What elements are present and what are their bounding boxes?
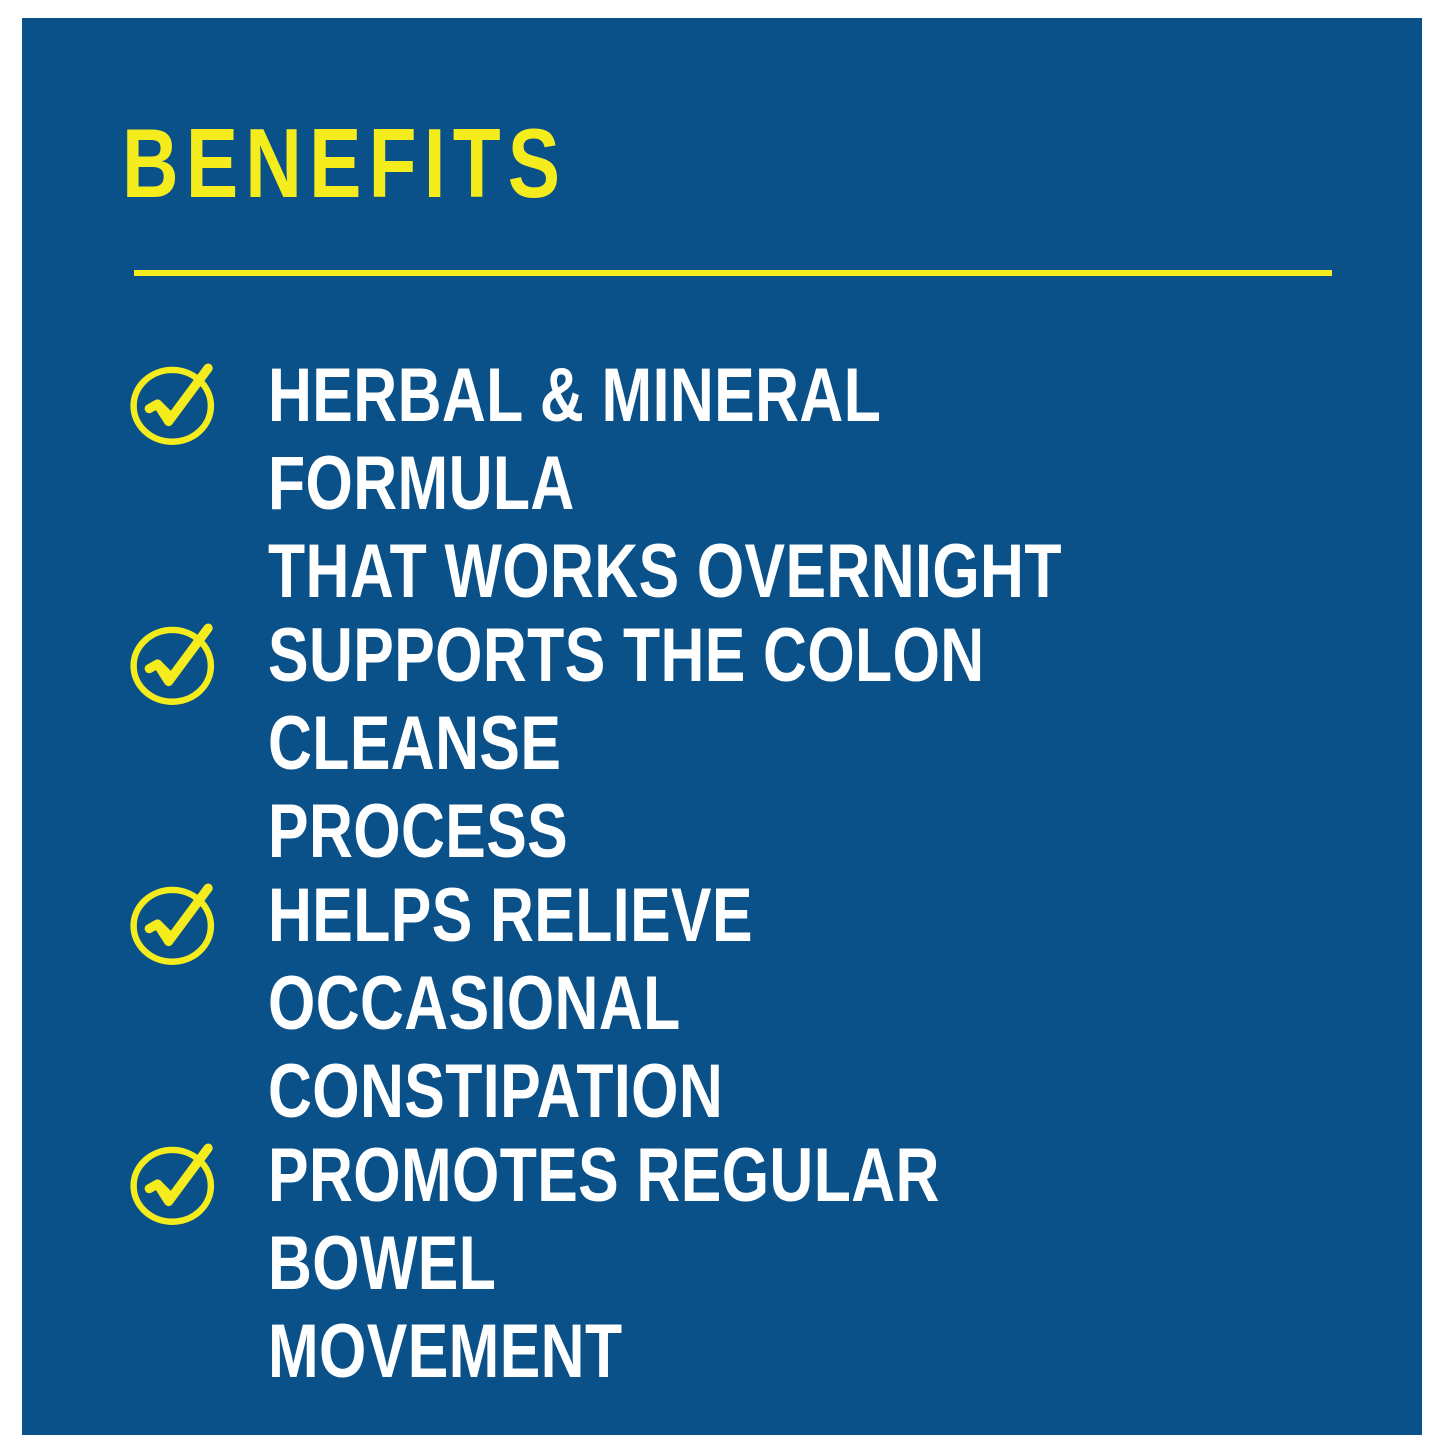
benefits-list: HERBAL & MINERAL FORMULA THAT WORKS OVER… — [22, 352, 1422, 1392]
benefit-text: HERBAL & MINERAL FORMULA THAT WORKS OVER… — [268, 352, 1180, 616]
check-circle-icon — [129, 358, 221, 450]
list-item: SUPPORTS THE COLON CLEANSE PROCESS — [22, 612, 1422, 872]
list-item: HELPS RELIEVE OCCASIONAL CONSTIPATION — [22, 872, 1422, 1132]
check-circle-icon — [129, 878, 221, 970]
check-circle-icon — [129, 618, 221, 710]
benefit-text: HELPS RELIEVE OCCASIONAL CONSTIPATION — [268, 872, 1180, 1136]
list-item: PROMOTES REGULAR BOWEL MOVEMENT — [22, 1132, 1422, 1392]
benefit-text: SUPPORTS THE COLON CLEANSE PROCESS — [268, 612, 1180, 876]
check-circle-icon — [129, 1138, 221, 1230]
benefit-text: PROMOTES REGULAR BOWEL MOVEMENT — [268, 1132, 1180, 1396]
page-title: BENEFITS — [122, 114, 567, 212]
benefits-panel: BENEFITS HERBAL & MINERAL FORMULA THAT W… — [22, 18, 1422, 1435]
product-benefits-graphic: BENEFITS HERBAL & MINERAL FORMULA THAT W… — [0, 0, 1445, 1445]
title-divider — [134, 270, 1332, 276]
list-item: HERBAL & MINERAL FORMULA THAT WORKS OVER… — [22, 352, 1422, 612]
